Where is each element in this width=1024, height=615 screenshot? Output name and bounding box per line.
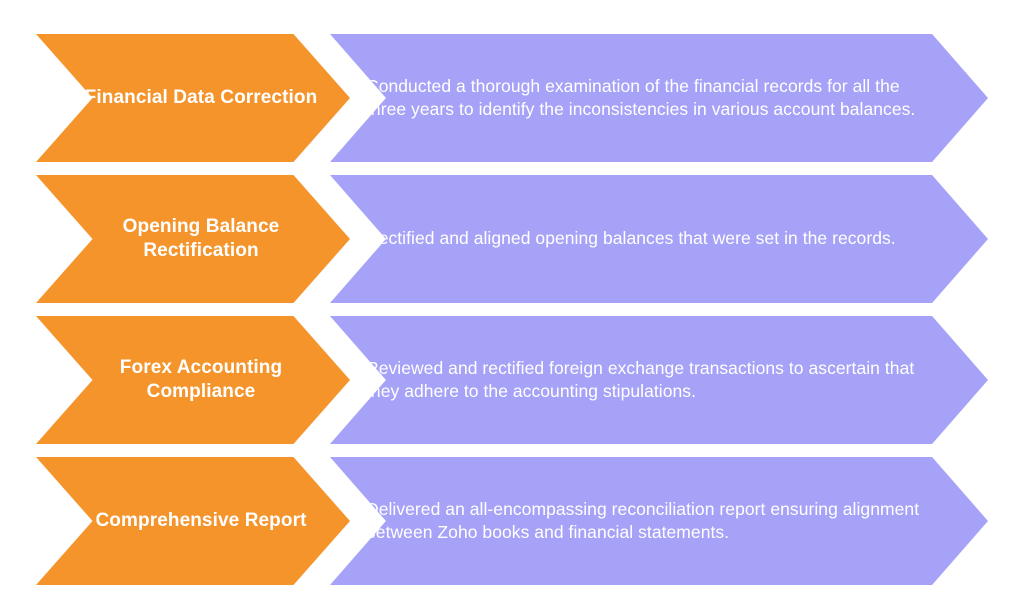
process-step-description-2: Rectified and aligned opening balances t… xyxy=(330,227,988,250)
process-step-description-4: Delivered an all-encompassing reconcilia… xyxy=(330,498,988,545)
process-step-label-shape-2[interactable]: Opening Balance Rectification xyxy=(36,175,350,303)
process-step-label-4: Comprehensive Report xyxy=(36,509,350,533)
process-step-body-shape-4[interactable]: Delivered an all-encompassing reconcilia… xyxy=(330,457,988,585)
process-row: Opening Balance Rectification Rectified … xyxy=(0,175,1024,303)
process-step-label-shape-3[interactable]: Forex Accounting Compliance xyxy=(36,316,350,444)
process-step-body-shape-1[interactable]: Conducted a thorough examination of the … xyxy=(330,34,988,162)
process-step-label-3: Forex Accounting Compliance xyxy=(36,356,350,405)
process-step-label-shape-4[interactable]: Comprehensive Report xyxy=(36,457,350,585)
process-step-label-2: Opening Balance Rectification xyxy=(36,215,350,264)
process-step-label-shape-1[interactable]: Financial Data Correction xyxy=(36,34,350,162)
chevron-process-diagram: Financial Data Correction Conducted a th… xyxy=(0,0,1024,615)
process-step-label-1: Financial Data Correction xyxy=(36,86,350,110)
process-row: Forex Accounting Compliance Reviewed and… xyxy=(0,316,1024,444)
process-step-description-1: Conducted a thorough examination of the … xyxy=(330,75,988,122)
process-row: Financial Data Correction Conducted a th… xyxy=(0,34,1024,162)
process-step-description-3: Reviewed and rectified foreign exchange … xyxy=(330,357,988,404)
process-row: Comprehensive Report Delivered an all-en… xyxy=(0,457,1024,585)
process-step-body-shape-3[interactable]: Reviewed and rectified foreign exchange … xyxy=(330,316,988,444)
process-step-body-shape-2[interactable]: Rectified and aligned opening balances t… xyxy=(330,175,988,303)
